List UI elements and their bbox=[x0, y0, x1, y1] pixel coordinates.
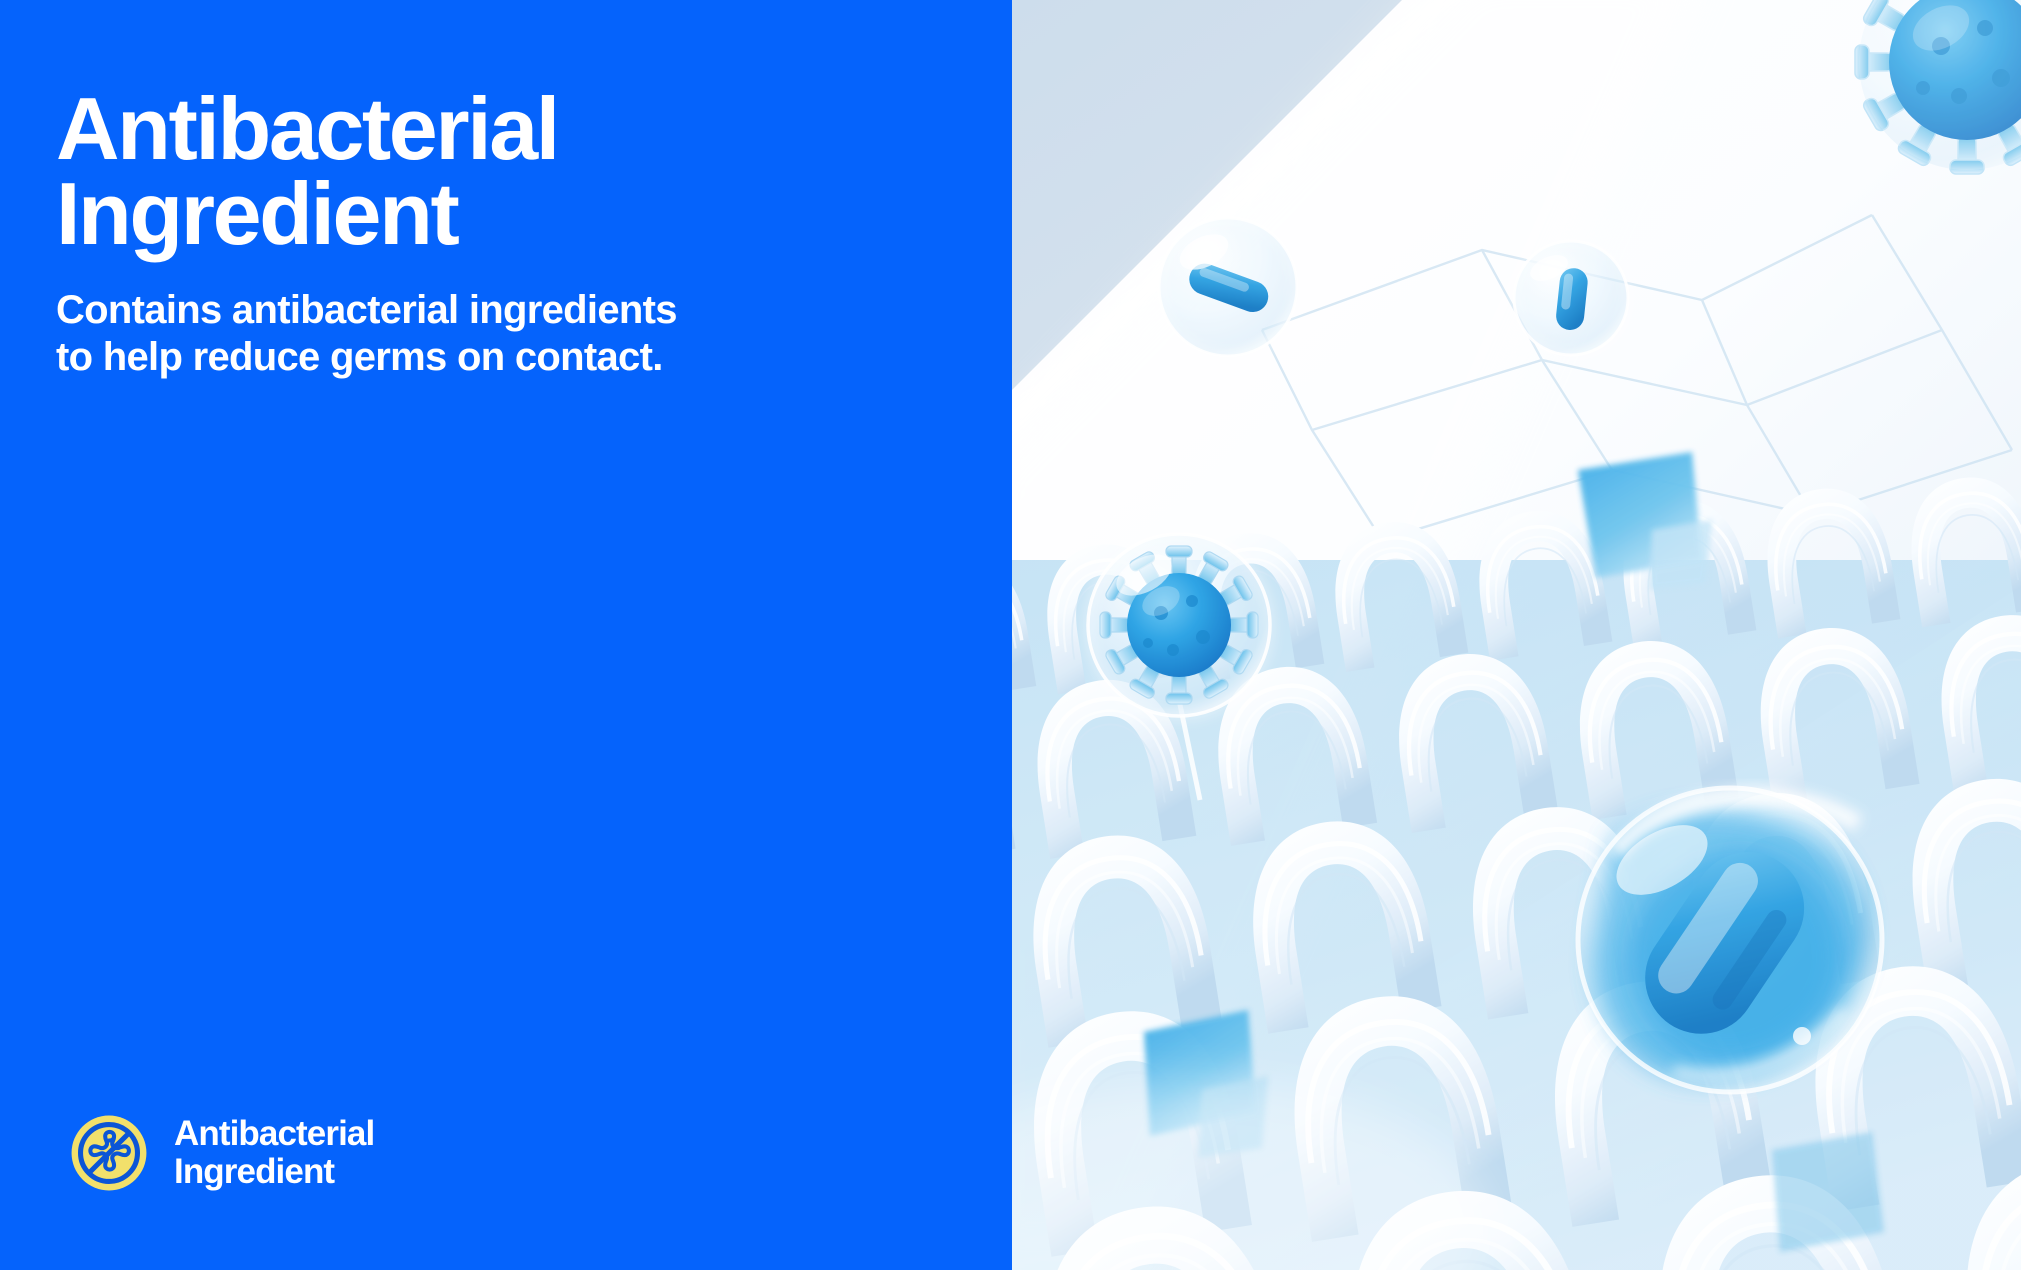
logo-wordmark: Antibacterial Ingredient bbox=[174, 1115, 374, 1191]
left-copy-panel: Antibacterial Ingredient Contains antiba… bbox=[0, 0, 1012, 1270]
antibacterial-fabric-3d-render bbox=[1012, 0, 2021, 1270]
page-title: Antibacterial Ingredient bbox=[56, 86, 976, 257]
logo-lockup: Antibacterial Ingredient bbox=[70, 1114, 374, 1192]
copy-block: Antibacterial Ingredient Contains antiba… bbox=[56, 86, 976, 381]
subtitle: Contains antibacterial ingredients to he… bbox=[56, 287, 976, 381]
antibacterial-ingredient-banner: Antibacterial Ingredient Contains antiba… bbox=[0, 0, 2021, 1270]
antibacterial-prohibition-germ-icon bbox=[70, 1114, 148, 1192]
